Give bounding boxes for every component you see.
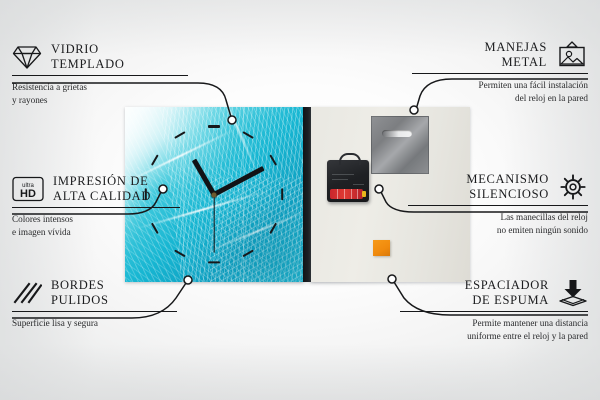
hanger-slot (382, 130, 412, 137)
gear-icon (558, 173, 588, 201)
badge-text-bottom: HD (20, 188, 36, 200)
feature-divider (12, 311, 177, 312)
feature-title-line-2: DE ESPUMA (465, 293, 549, 308)
feature-title-line-1: MECANISMO (466, 172, 549, 187)
feature-divider (400, 311, 588, 312)
feature-divider (408, 205, 588, 206)
feature-desc-line-1: Superficie lisa y segura (12, 317, 177, 329)
feature-title-line-2: PULIDOS (51, 293, 109, 308)
feature-vidrio-templado: VIDRIO TEMPLADO Resistencia a grietas y … (12, 42, 188, 106)
feature-title-line-1: MANEJAS (485, 40, 547, 55)
feature-desc-line-2: no emiten ningún sonido (408, 224, 588, 236)
feature-desc-line-2: e imagen vívida (12, 226, 180, 238)
metal-hanger-plate (371, 116, 429, 174)
feature-desc-line-1: Resistencia a grietas (12, 81, 188, 93)
infographic-canvas: VIDRIO TEMPLADO Resistencia a grietas y … (0, 0, 600, 400)
feature-desc-line-2: uniforme entre el reloj y la pared (400, 330, 588, 342)
foam-spacer-arrow-icon (558, 279, 588, 307)
feature-title-line-2: ALTA CALIDAD (53, 189, 151, 204)
ultra-hd-badge-icon: ultra HD (12, 176, 44, 202)
feature-title-line-2: SILENCIOSO (466, 187, 549, 202)
feature-divider (412, 73, 588, 74)
battery-terminal (362, 191, 366, 197)
feature-mecanismo-silencioso: MECANISMO SILENCIOSO Las manecillas del … (408, 172, 588, 236)
feature-title-line-1: VIDRIO (51, 42, 125, 57)
foam-spacer (373, 240, 390, 256)
battery (330, 189, 363, 199)
quartz-movement (327, 160, 369, 202)
movement-hook (339, 153, 361, 165)
feature-heading: ESPACIADOR DE ESPUMA (400, 278, 588, 307)
picture-frame-hanger-icon (556, 41, 588, 69)
hour-hand (192, 159, 216, 196)
diamond-icon (12, 44, 42, 70)
feature-manejas-metal: MANEJAS METAL Permiten una fácil instala… (412, 40, 588, 104)
feature-title-line-1: BORDES (51, 278, 109, 293)
feature-heading: VIDRIO TEMPLADO (12, 42, 188, 71)
feature-title-line-2: TEMPLADO (51, 57, 125, 72)
feature-bordes-pulidos: BORDES PULIDOS Superficie lisa y segura (12, 278, 177, 330)
feature-desc-line-1: Permite mantener una distancia (400, 317, 588, 329)
feature-divider (12, 207, 180, 208)
feature-desc-line-1: Colores intensos (12, 213, 180, 225)
polished-edges-icon (12, 280, 42, 306)
feature-title-line-2: METAL (485, 55, 547, 70)
feature-impresion-alta-calidad: ultra HD IMPRESIÓN DE ALTA CALIDAD Color… (12, 174, 180, 238)
feature-desc-line-2: y rayones (12, 94, 188, 106)
feature-divider (12, 75, 188, 76)
feature-espaciador-de-espuma: ESPACIADOR DE ESPUMA Permite mantener un… (400, 278, 588, 342)
feature-desc-line-1: Permiten una fácil instalación (412, 79, 588, 91)
hands-center-cap (212, 192, 217, 197)
second-hand (213, 194, 214, 252)
feature-desc-line-2: del reloj en la pared (412, 92, 588, 104)
feature-title-line-1: ESPACIADOR (465, 278, 549, 293)
feature-desc-line-1: Las manecillas del reloj (408, 211, 588, 223)
feature-heading: BORDES PULIDOS (12, 278, 177, 307)
feature-title-line-1: IMPRESIÓN DE (53, 174, 151, 189)
clock-side-edge (303, 107, 311, 282)
feature-heading: ultra HD IMPRESIÓN DE ALTA CALIDAD (12, 174, 180, 203)
feature-heading: MECANISMO SILENCIOSO (408, 172, 588, 201)
feature-heading: MANEJAS METAL (412, 40, 588, 69)
minute-hand (213, 166, 265, 197)
